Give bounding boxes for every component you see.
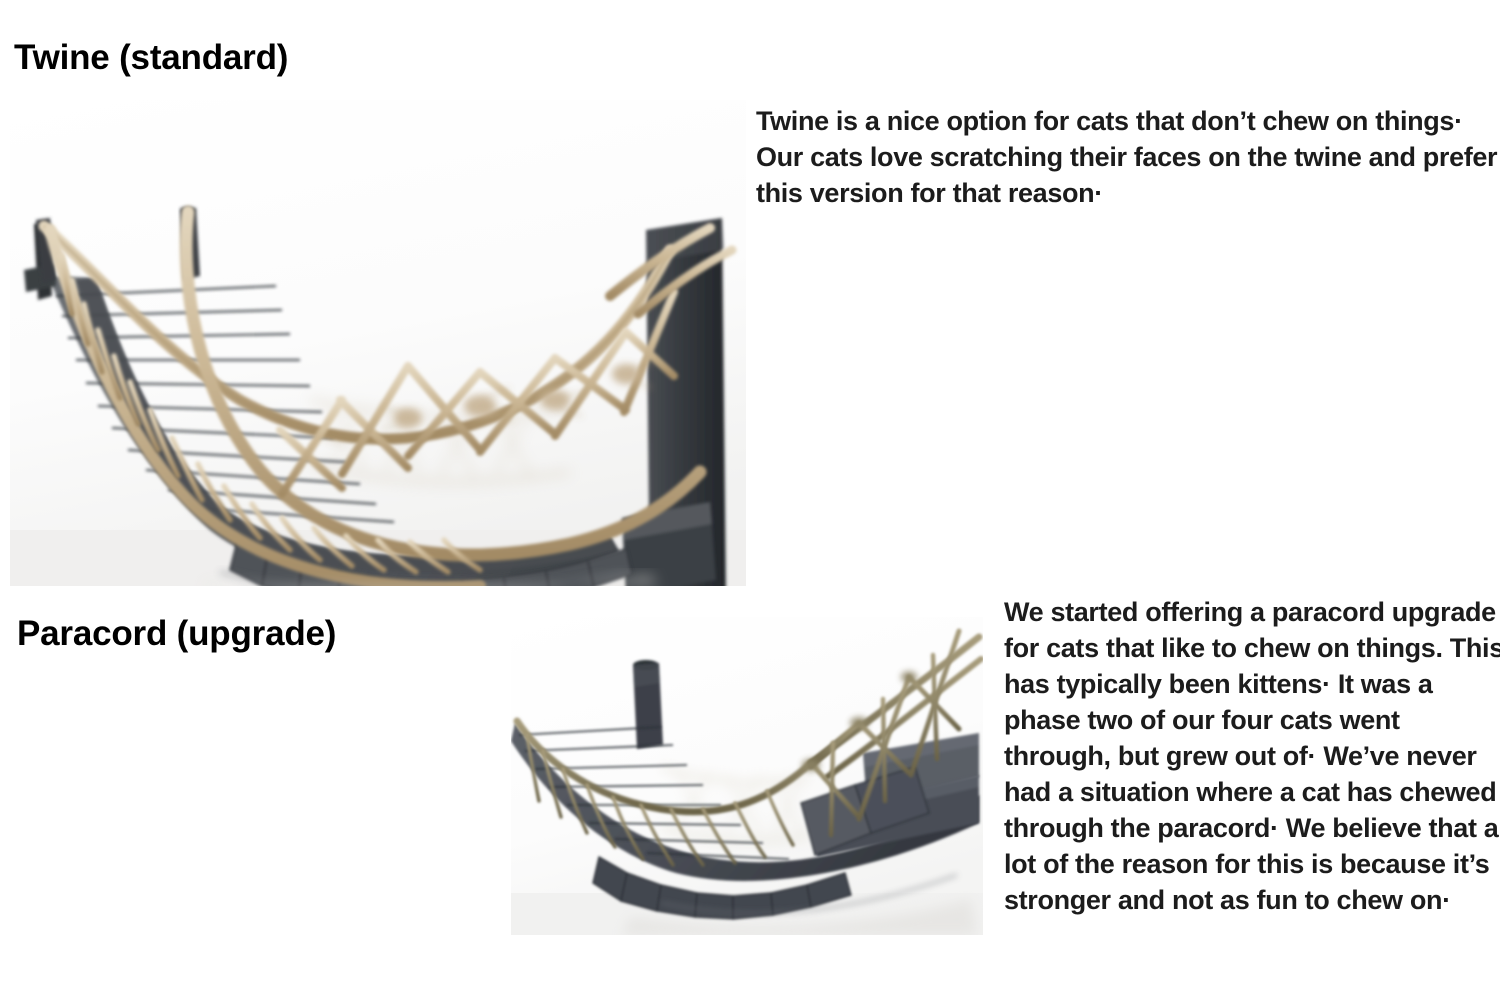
section-heading-paracord: Paracord (upgrade): [17, 614, 336, 654]
section-heading-twine: Twine (standard): [14, 38, 288, 78]
twine-rope-bridge-photo: [10, 100, 746, 586]
section-body-twine: Twine is a nice option for cats that don…: [756, 103, 1500, 211]
section-body-paracord: We started offering a paracord upgrade f…: [1004, 594, 1500, 918]
paracord-rope-bridge-photo: [511, 617, 983, 935]
